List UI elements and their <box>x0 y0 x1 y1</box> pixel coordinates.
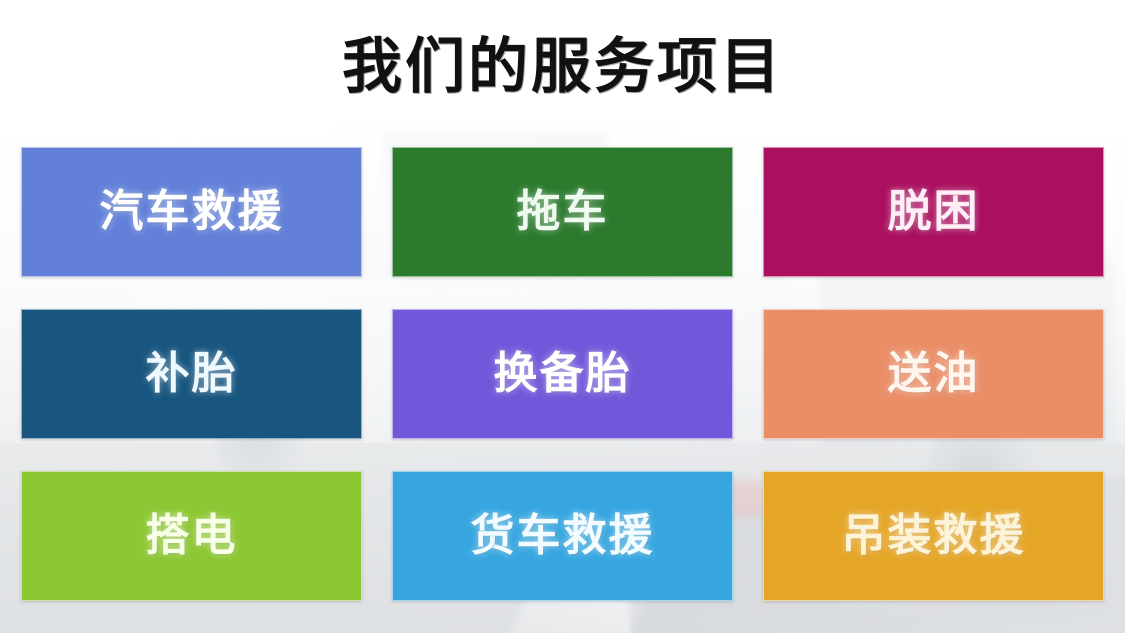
service-tile-label: 汽车救援 <box>100 190 284 234</box>
service-tile[interactable]: 货车救援 <box>392 471 733 601</box>
service-tile-label: 货车救援 <box>471 514 655 558</box>
service-tile-label: 补胎 <box>146 352 238 396</box>
service-tile[interactable]: 补胎 <box>21 309 362 439</box>
page-title: 我们的服务项目 <box>342 37 783 97</box>
service-tile[interactable]: 搭电 <box>21 471 362 601</box>
service-tile-label: 拖车 <box>517 190 609 234</box>
service-tile-label: 吊装救援 <box>842 514 1026 558</box>
service-tile[interactable]: 拖车 <box>392 147 733 277</box>
service-tile[interactable]: 汽车救援 <box>21 147 362 277</box>
service-tile[interactable]: 脱困 <box>763 147 1104 277</box>
service-tile-label: 换备胎 <box>494 352 632 396</box>
service-tile[interactable]: 换备胎 <box>392 309 733 439</box>
service-poster: 我们的服务项目 汽车救援拖车脱困补胎换备胎送油搭电货车救援吊装救援 <box>0 0 1125 633</box>
title-band: 我们的服务项目 <box>0 0 1125 134</box>
service-tile-label: 脱困 <box>888 190 980 234</box>
service-tile-label: 搭电 <box>146 514 238 558</box>
service-tile[interactable]: 送油 <box>763 309 1104 439</box>
service-tile-grid: 汽车救援拖车脱困补胎换备胎送油搭电货车救援吊装救援 <box>21 147 1104 617</box>
service-tile[interactable]: 吊装救援 <box>763 471 1104 601</box>
service-tile-label: 送油 <box>888 352 980 396</box>
